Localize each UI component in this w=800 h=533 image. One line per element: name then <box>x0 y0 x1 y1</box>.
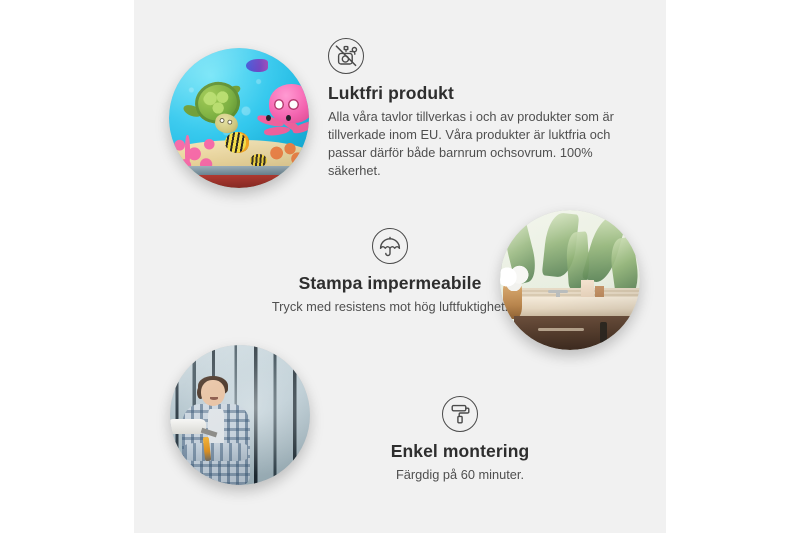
feature-easy-mounting: Enkel montering Färgdig på 60 minuter. <box>330 396 590 484</box>
feature-description: Färgdig på 60 minuter. <box>330 466 590 484</box>
content-panel: Luktfri produkt Alla våra tavlor tillver… <box>134 0 666 533</box>
octopus-pupil <box>286 115 291 121</box>
feature-title: Luktfri produkt <box>328 83 628 104</box>
smile <box>210 397 219 400</box>
yellow-striped-fish <box>225 132 249 153</box>
turtle-illustration <box>186 79 250 135</box>
feature-title: Stampa impermeabile <box>222 273 558 294</box>
product-feature-graphic: Luktfri produkt Alla våra tavlor tillver… <box>0 0 800 533</box>
product-image-forest <box>170 345 310 485</box>
sea-floor-shelf <box>177 166 300 188</box>
octopus-illustration <box>256 84 309 148</box>
product-image-sea <box>169 48 309 188</box>
feature-odor-free: Luktfri produkt Alla våra tavlor tillver… <box>328 38 628 181</box>
sea-scene-inner <box>169 48 309 188</box>
painter-person <box>178 376 265 485</box>
vanity-cabinet <box>514 316 640 350</box>
octopus-arm <box>264 125 291 136</box>
umbrella-icon <box>372 228 408 264</box>
paint-roller-icon <box>442 396 478 432</box>
folded-arms <box>184 443 248 460</box>
face <box>201 380 225 406</box>
blue-fish <box>246 59 268 72</box>
feature-description: Tryck med resistens mot hög luftfuktighe… <box>222 298 558 316</box>
feature-waterproof: Stampa impermeabile Tryck med resistens … <box>222 228 558 316</box>
feature-title: Enkel montering <box>330 441 590 462</box>
no-perfume-icon <box>328 38 364 74</box>
feature-description: Alla våra tavlor tillverkas i och av pro… <box>328 108 628 181</box>
forest-scene-inner <box>170 345 310 485</box>
